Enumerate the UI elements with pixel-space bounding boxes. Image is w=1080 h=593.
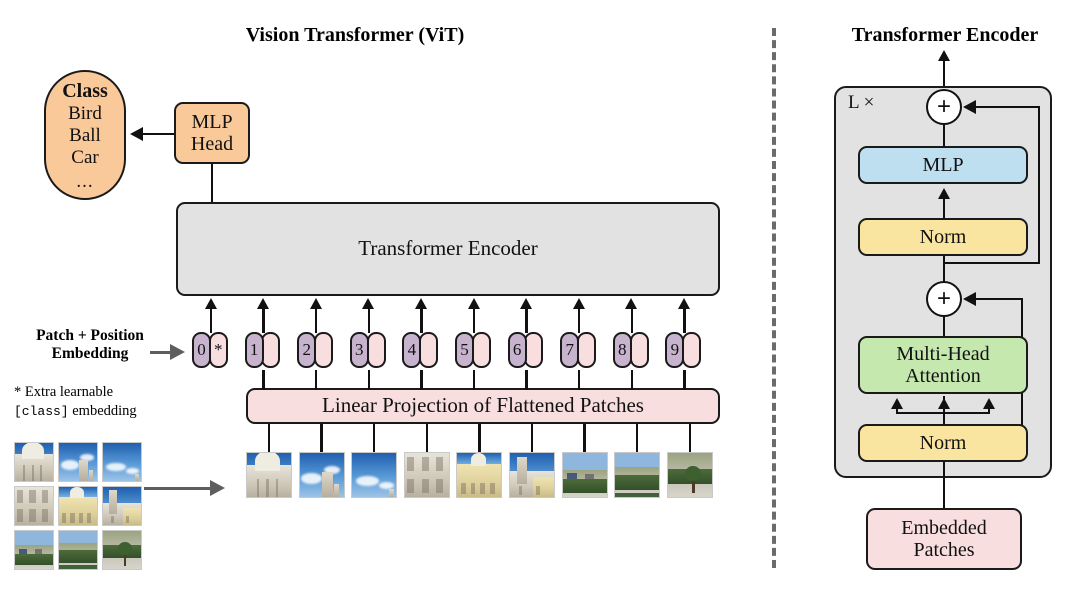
patch-window	[436, 457, 443, 472]
token-position-embedding-2	[314, 332, 333, 368]
patch-hedge	[615, 475, 659, 490]
token-index-1: 1	[245, 332, 264, 368]
source-patch-1-2	[102, 486, 142, 526]
projection-to-token-7-line	[578, 370, 580, 390]
token-index-9: 9	[665, 332, 684, 368]
residual-add-bottom-symbol: +	[937, 287, 951, 311]
patch-column	[23, 465, 25, 481]
token-position-embedding-4	[419, 332, 438, 368]
patch-window	[407, 479, 414, 494]
grid-to-sequence-line	[144, 487, 212, 490]
patch-window	[17, 490, 23, 503]
sequence-patch-7	[562, 452, 608, 498]
token-0-to-encoder-line	[210, 307, 212, 333]
patch-tower	[334, 484, 339, 497]
qkv-center-arrowhead	[938, 398, 950, 409]
token-6-to-encoder-arrowhead	[520, 298, 532, 309]
sequence-patch-5-to-projection-line	[478, 424, 480, 452]
sequence-patch-2	[299, 452, 345, 498]
footnote-line2-tail: embedding	[69, 403, 137, 419]
token-index-6: 6	[508, 332, 527, 368]
token-9-to-encoder-line	[683, 307, 685, 333]
transformer-encoder-bar: Transformer Encoder	[176, 202, 720, 296]
token-position-embedding-5	[472, 332, 491, 368]
patch-window	[461, 483, 466, 494]
sequence-patch-7-to-projection-line	[583, 424, 585, 452]
mlp-head-line2: Head	[191, 133, 233, 155]
source-patch-0-1	[58, 442, 98, 482]
patch-window	[29, 509, 35, 522]
token-index-3: 3	[350, 332, 369, 368]
patch-window	[126, 516, 129, 524]
residual-top-tap	[943, 262, 1040, 264]
projection-to-token-9-line	[683, 370, 685, 390]
mlp-to-class-line	[142, 133, 174, 135]
embedded-patches-block: Embedded Patches	[866, 508, 1022, 570]
embedding-label-line2: Embedding	[10, 345, 170, 363]
patch-position-embedding-label: Patch + Position Embedding	[10, 327, 170, 363]
patch-window	[42, 490, 48, 503]
token-9: 9	[665, 332, 701, 368]
mlp-to-add-line	[943, 125, 945, 147]
projection-to-token-1-line	[262, 370, 264, 390]
left-panel-title: Vision Transformer (ViT)	[180, 24, 530, 47]
mlp-to-class-arrowhead	[130, 127, 143, 141]
footnote-line2: [class] embedding	[14, 402, 137, 421]
token-5-to-encoder-line	[473, 307, 475, 333]
token-5-to-encoder-arrowhead	[468, 298, 480, 309]
projection-to-token-6-line	[525, 370, 527, 390]
patch-window	[87, 513, 91, 523]
embedded-to-norm-line	[943, 462, 945, 510]
patch-window	[79, 513, 83, 523]
projection-to-token-5-line	[473, 370, 475, 390]
sequence-patch-9	[667, 452, 713, 498]
patch-cloud	[379, 482, 394, 489]
class-item-ball: Ball	[69, 125, 101, 147]
token-4-to-encoder-line	[420, 307, 422, 333]
token-1: 1	[245, 332, 281, 368]
patch-car	[35, 549, 43, 554]
attention-label-line2: Attention	[905, 365, 981, 387]
token-4-to-encoder-arrowhead	[415, 298, 427, 309]
mlp-block: MLP	[858, 146, 1028, 184]
token-4: 4	[402, 332, 438, 368]
attention-to-add-line	[943, 317, 945, 337]
embedded-patches-line2: Patches	[913, 539, 974, 561]
sequence-patch-4-to-projection-line	[426, 424, 428, 452]
token-3: 3	[350, 332, 386, 368]
patch-cloud	[356, 476, 379, 486]
class-box-header: Class	[62, 80, 108, 102]
token-0: 0*	[192, 332, 228, 368]
patch-window	[519, 486, 523, 495]
patch-hedge	[15, 554, 53, 565]
token-8: 8	[613, 332, 649, 368]
norm-block-top: Norm	[858, 218, 1028, 256]
patch-car	[567, 473, 577, 479]
embedding-label-arrow-line	[150, 351, 172, 354]
residual-bottom-arrowhead	[963, 292, 976, 306]
sequence-patch-5	[456, 452, 502, 498]
sequence-patch-3	[351, 452, 397, 498]
projection-to-token-4-line	[420, 370, 422, 390]
token-position-embedding-1	[261, 332, 280, 368]
residual-top-arrowhead	[963, 100, 976, 114]
transformer-encoder-bar-label: Transformer Encoder	[358, 237, 537, 261]
token-position-embedding-9	[682, 332, 701, 368]
sequence-patch-6-to-projection-line	[531, 424, 533, 452]
source-patch-0-0	[14, 442, 54, 482]
token-8-to-encoder-line	[631, 307, 633, 333]
sequence-patch-1	[246, 452, 292, 498]
mlp-block-label: MLP	[922, 154, 963, 176]
source-patch-0-2	[102, 442, 142, 482]
patch-hedge	[59, 565, 97, 569]
token-index-5: 5	[455, 332, 474, 368]
patch-tower	[322, 472, 333, 497]
class-item-car: Car	[71, 147, 98, 169]
sequence-patch-9-to-projection-line	[689, 424, 691, 452]
patch-tower	[79, 460, 88, 481]
token-index-0: 0	[192, 332, 211, 368]
embedding-label-line1: Patch + Position	[10, 327, 170, 345]
patch-window	[422, 457, 429, 472]
patch-window	[436, 479, 443, 494]
norm-top-to-mlp-arrowhead	[938, 188, 950, 199]
vit-architecture-figure: Vision Transformer (ViT) Class Bird Ball…	[0, 0, 1080, 593]
patch-window	[29, 490, 35, 503]
norm-bottom-label: Norm	[920, 432, 967, 454]
token-6: 6	[508, 332, 544, 368]
token-index-8: 8	[613, 332, 632, 368]
patch-car	[585, 474, 594, 479]
patch-window	[471, 483, 476, 494]
token-3-to-encoder-line	[368, 307, 370, 333]
projection-to-token-3-line	[368, 370, 370, 390]
residual-top-horizontal	[975, 106, 1040, 108]
patch-window	[17, 509, 23, 522]
token-5: 5	[455, 332, 491, 368]
repeat-count-label: L ×	[848, 92, 874, 114]
patch-window	[407, 457, 414, 472]
patch-window	[536, 486, 540, 495]
patch-dome	[471, 453, 487, 466]
patch-column	[32, 465, 34, 481]
patch-hedge	[59, 550, 97, 563]
patch-column	[276, 479, 278, 497]
token-7-to-encoder-line	[578, 307, 580, 333]
patch-window	[111, 516, 114, 524]
footnote-line1: * Extra learnable	[14, 383, 137, 402]
embedding-label-arrowhead	[170, 344, 185, 360]
patch-column	[257, 479, 259, 497]
token-index-2: 2	[297, 332, 316, 368]
source-patch-2-0	[14, 530, 54, 570]
residual-top-vertical	[1038, 106, 1040, 264]
patch-cloud	[61, 460, 79, 469]
token-position-embedding-7	[577, 332, 596, 368]
patch-window	[42, 509, 48, 522]
sequence-patch-4	[404, 452, 450, 498]
footnote-mono-token: [class]	[14, 404, 69, 419]
token-2-to-encoder-arrowhead	[310, 298, 322, 309]
patch-window	[422, 479, 429, 494]
source-patch-1-0	[14, 486, 54, 526]
token-position-embedding-3	[367, 332, 386, 368]
token-8-to-encoder-arrowhead	[625, 298, 637, 309]
token-2-to-encoder-line	[315, 307, 317, 333]
token-0-to-encoder-arrowhead	[205, 298, 217, 309]
residual-bottom-horizontal	[975, 298, 1023, 300]
source-patch-2-1	[58, 530, 98, 570]
sequence-patch-6	[509, 452, 555, 498]
patch-hedge	[615, 493, 659, 497]
patch-tower	[135, 474, 139, 481]
sequence-patch-8	[614, 452, 660, 498]
embedded-patches-line1: Embedded	[901, 517, 987, 539]
class-output-box: Class Bird Ball Car ...	[44, 70, 126, 200]
panel-divider	[772, 28, 776, 568]
linear-projection-bar: Linear Projection of Flattened Patches	[246, 388, 720, 424]
patch-tower	[517, 457, 527, 484]
token-7-to-encoder-arrowhead	[573, 298, 585, 309]
mlp-head-box: MLP Head	[174, 102, 250, 164]
patch-tower	[389, 489, 393, 497]
attention-label-line1: Multi-Head	[896, 343, 989, 365]
class-item-bird: Bird	[68, 103, 102, 125]
projection-to-token-2-line	[315, 370, 317, 390]
patch-hedge	[563, 479, 607, 492]
grid-to-sequence-arrowhead	[210, 480, 225, 496]
encoder-output-arrowhead	[938, 50, 950, 61]
class-ellipsis: ...	[76, 171, 93, 192]
patch-dome	[22, 442, 44, 459]
token-1-to-encoder-arrowhead	[257, 298, 269, 309]
source-patch-2-2	[102, 530, 142, 570]
patch-car	[19, 549, 27, 554]
patch-cloud	[106, 463, 126, 471]
encoder-to-mlp-head-line	[211, 164, 213, 202]
patch-window	[490, 483, 495, 494]
token-index-4: 4	[402, 332, 421, 368]
sequence-patch-8-to-projection-line	[636, 424, 638, 452]
sequence-patch-1-to-projection-line	[268, 424, 270, 452]
patch-tower	[89, 470, 94, 481]
patch-window	[70, 513, 74, 523]
patch-window	[480, 483, 485, 494]
token-2: 2	[297, 332, 333, 368]
token-9-to-encoder-arrowhead	[678, 298, 690, 309]
norm-top-label: Norm	[920, 226, 967, 248]
token-index-7: 7	[560, 332, 579, 368]
source-patch-1-1	[58, 486, 98, 526]
patch-dome	[255, 452, 281, 471]
multi-head-attention-block: Multi-Head Attention	[858, 336, 1028, 394]
residual-add-top: +	[926, 89, 962, 125]
encoder-output-line	[943, 57, 945, 87]
residual-add-bottom: +	[926, 281, 962, 317]
residual-add-top-symbol: +	[937, 95, 951, 119]
patch-window	[62, 513, 66, 523]
token-1-to-encoder-line	[262, 307, 264, 333]
token-7: 7	[560, 332, 596, 368]
token-3-to-encoder-arrowhead	[362, 298, 374, 309]
patch-column	[40, 465, 42, 481]
class-embedding-footnote: * Extra learnable [class] embedding	[14, 383, 137, 421]
qkv-right-arrowhead	[983, 398, 995, 409]
right-panel-title: Transformer Encoder	[820, 24, 1070, 47]
patch-dome	[70, 487, 84, 498]
sequence-patch-3-to-projection-line	[373, 424, 375, 452]
patch-tower	[109, 490, 117, 514]
token-6-to-encoder-line	[525, 307, 527, 333]
patch-cloud	[301, 473, 322, 484]
token-position-embedding-6	[524, 332, 543, 368]
norm-block-bottom: Norm	[858, 424, 1028, 462]
patch-column	[266, 479, 268, 497]
sequence-patch-2-to-projection-line	[320, 424, 322, 452]
token-position-embedding-0: *	[209, 332, 228, 368]
norm-top-downlink	[943, 256, 945, 284]
norm-top-to-mlp-line	[943, 196, 945, 218]
token-position-embedding-8	[630, 332, 649, 368]
linear-projection-label: Linear Projection of Flattened Patches	[322, 394, 644, 418]
qkv-left-arrowhead	[891, 398, 903, 409]
mlp-head-line1: MLP	[191, 111, 232, 133]
projection-to-token-8-line	[631, 370, 633, 390]
